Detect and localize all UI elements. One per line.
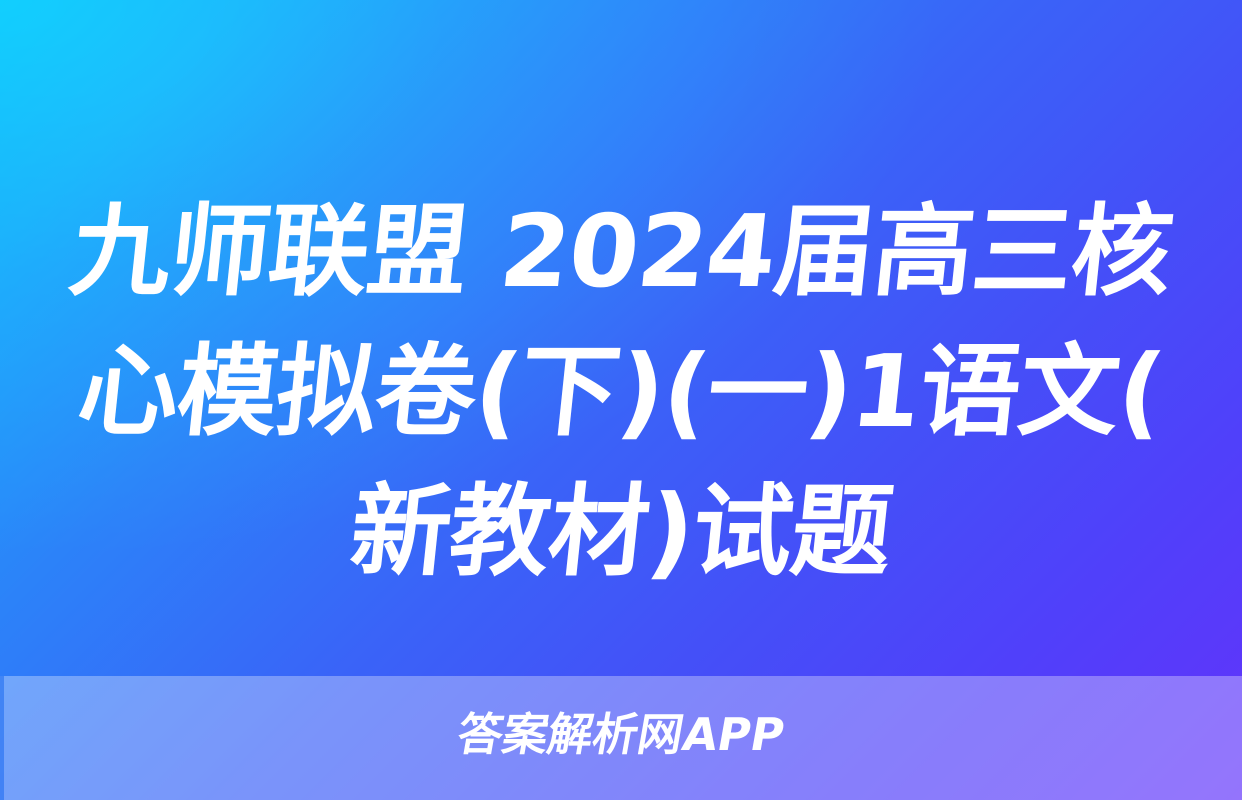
page-title: 九师联盟 2024届高三核 心模拟卷(下)(一)1语文( 新教材)试题 — [0, 182, 1242, 602]
title-line-3: 新教材)试题 — [27, 462, 1216, 602]
title-line-2: 心模拟卷(下)(一)1语文( — [27, 322, 1216, 462]
document-cover: 九师联盟 2024届高三核 心模拟卷(下)(一)1语文( 新教材)试题 答案解析… — [0, 0, 1242, 800]
title-line-1: 九师联盟 2024届高三核 — [27, 182, 1216, 322]
watermark: 答案解析网APP — [0, 706, 1242, 764]
watermark-label: 答案解析网APP — [453, 706, 789, 764]
